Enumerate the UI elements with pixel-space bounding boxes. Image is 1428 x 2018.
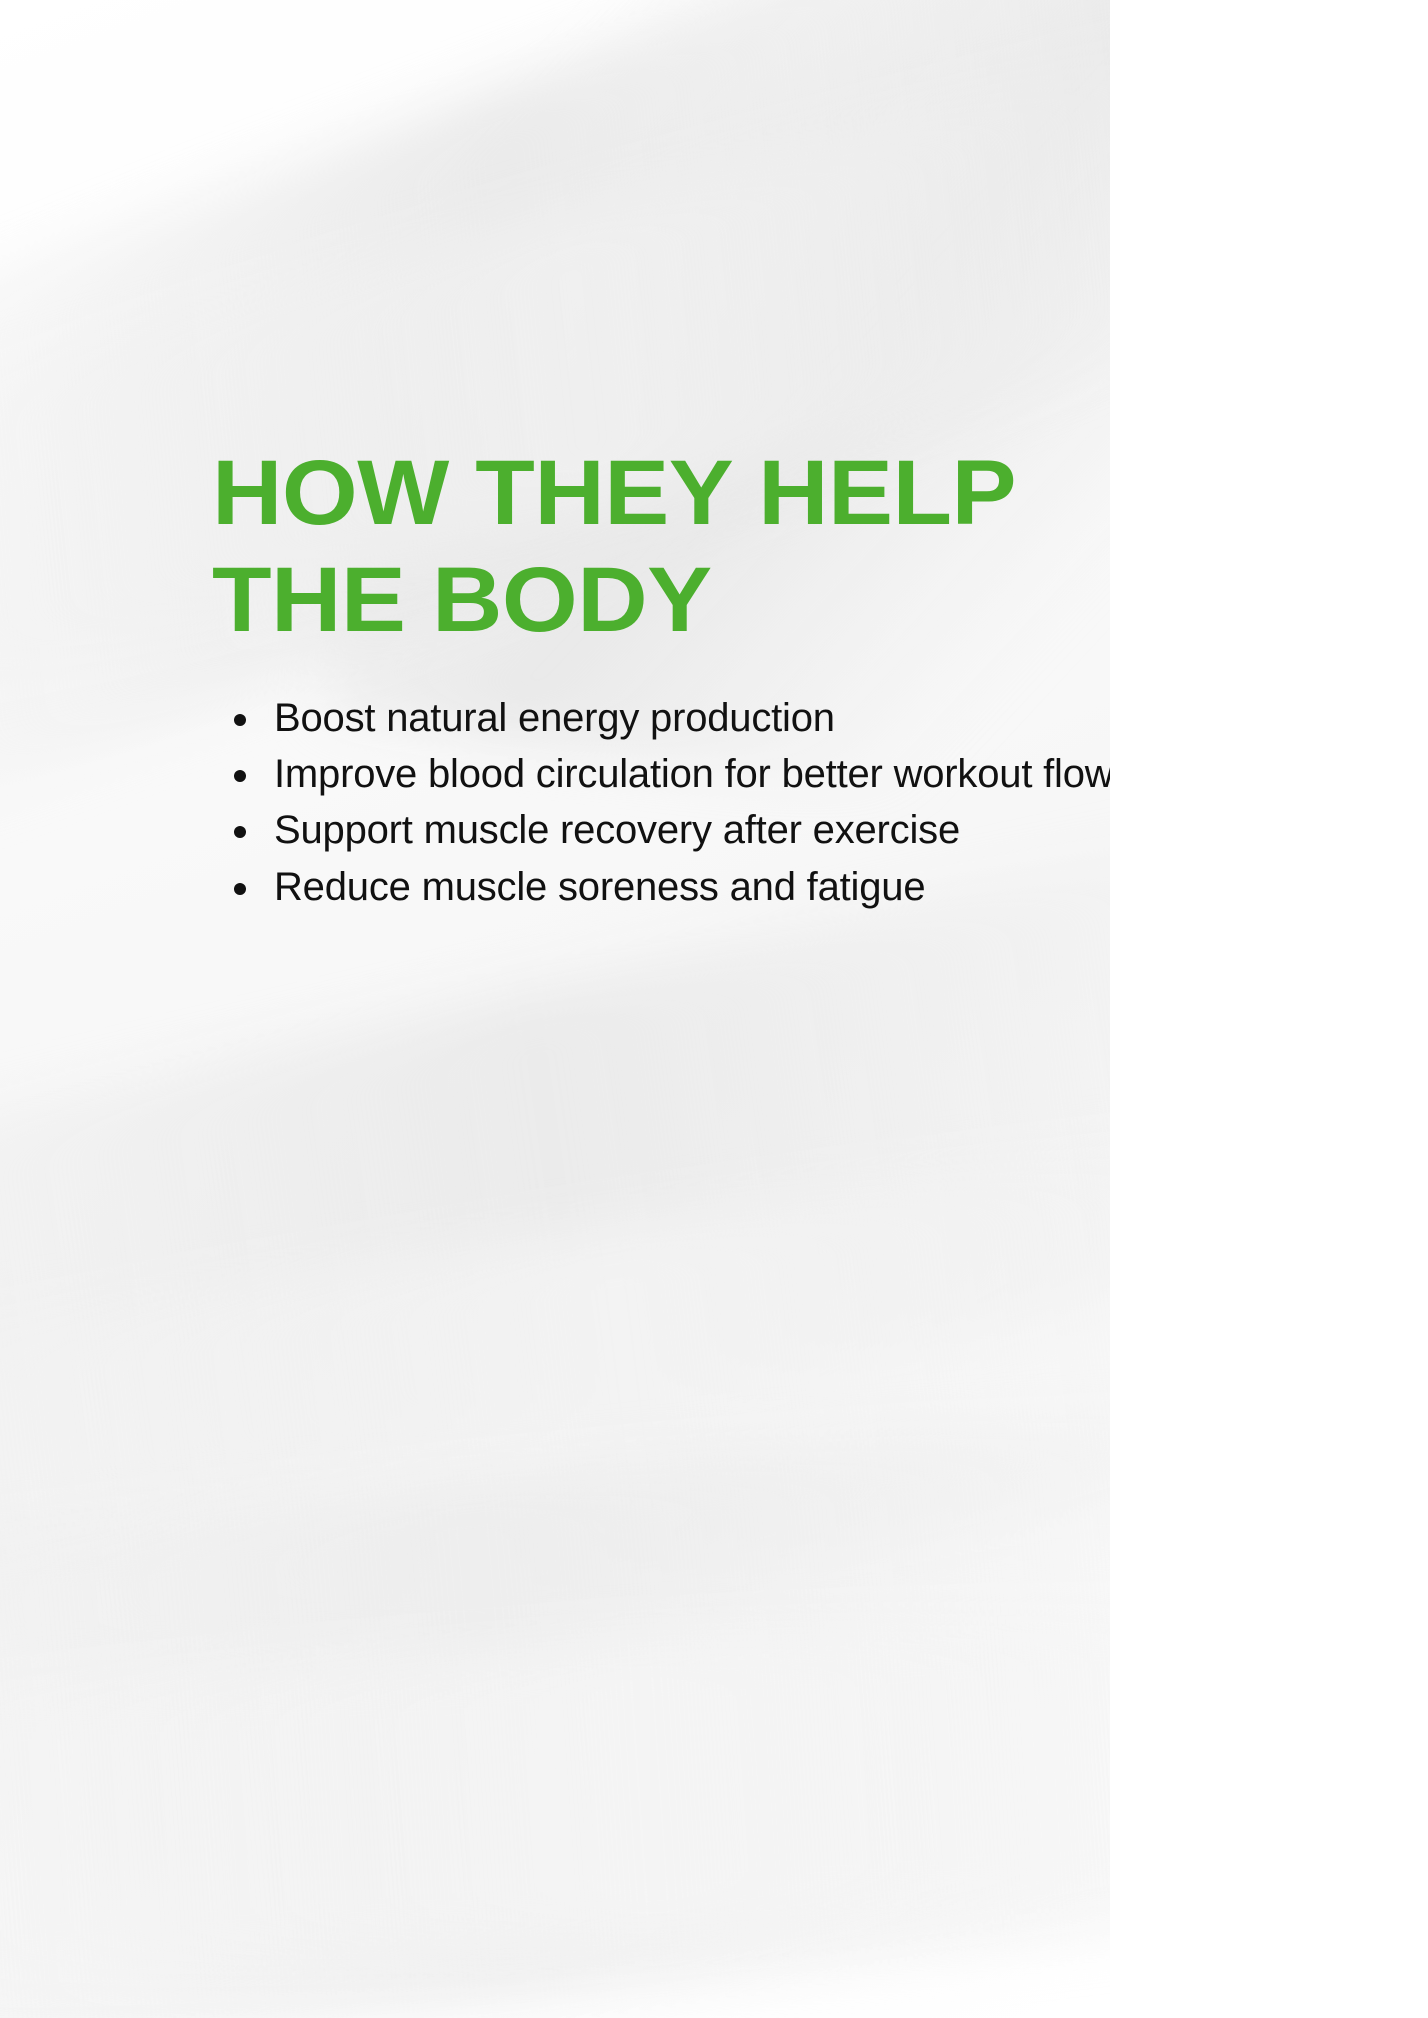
background-gradient (0, 0, 1110, 2018)
benefit-label: Boost natural energy production (274, 696, 835, 740)
background-wave-6 (0, 1574, 1110, 2006)
benefit-label: Reduce muscle soreness and fatigue (274, 865, 925, 909)
artboard: HOW THEY HELP THE BODY Boost natural ene… (0, 0, 1110, 2018)
list-item: Improve blood circulation for better wor… (222, 748, 1110, 801)
background-wave-4 (0, 1068, 1110, 1752)
background-wave-5 (0, 1356, 1110, 2018)
slide-canvas: HOW THEY HELP THE BODY Boost natural ene… (0, 0, 1428, 2018)
benefits-list: Boost natural energy production Improve … (222, 692, 1110, 917)
list-item: Boost natural energy production (222, 692, 1110, 745)
benefit-label: Improve blood circulation for better wor… (274, 752, 1110, 796)
list-item: Reduce muscle soreness and fatigue (222, 861, 1110, 914)
page-title: HOW THEY HELP THE BODY (212, 440, 1110, 653)
list-item: Support muscle recovery after exercise (222, 804, 1110, 857)
benefit-label: Support muscle recovery after exercise (274, 808, 960, 852)
